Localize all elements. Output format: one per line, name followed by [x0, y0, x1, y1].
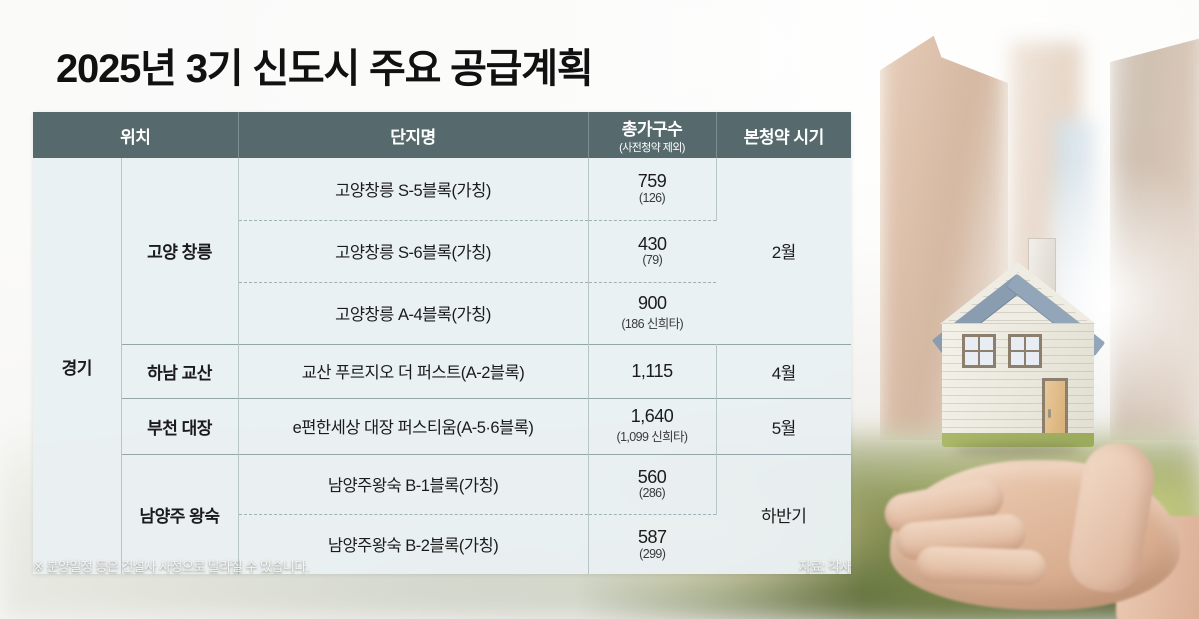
column-header-schedule: 본청약 시기 — [716, 112, 851, 158]
units-value: 430 — [593, 235, 713, 254]
column-header-complex: 단지명 — [238, 112, 588, 158]
units-value: 560 — [593, 468, 712, 487]
units-note: (79) — [593, 253, 713, 267]
cell-complex-name: 고양창릉 A-4블록(가칭) — [238, 282, 588, 344]
column-header-units-sub: (사전청약 제외) — [589, 139, 716, 155]
units-value: 900 — [593, 294, 713, 313]
cell-units: 759 (126) — [588, 158, 716, 220]
cell-complex-name: 고양창릉 S-5블록(가칭) — [238, 158, 588, 220]
units-value: 1,640 — [593, 407, 712, 426]
source-text: 자료: 각사 — [799, 556, 851, 575]
cell-units: 1,115 — [588, 344, 716, 398]
units-note: (126) — [593, 191, 712, 205]
table-header: 위치 단지명 총가구수 (사전청약 제외) 본청약 시기 — [33, 112, 851, 158]
cell-complex-name: 남양주왕숙 B-1블록(가칭) — [238, 454, 588, 514]
units-value: 759 — [593, 172, 712, 191]
table-row: 부천 대장 e편한세상 대장 퍼스티움(A-5·6블록) 1,640 (1,09… — [33, 398, 851, 454]
cell-units: 900 (186 신희타) — [588, 282, 716, 344]
units-value: 1,115 — [593, 362, 712, 381]
table-row: 경기 고양 창릉 고양창릉 S-5블록(가칭) 759 (126) 2월 — [33, 158, 851, 220]
cell-complex-name: 고양창릉 S-6블록(가칭) — [238, 220, 588, 282]
cell-complex-name: e편한세상 대장 퍼스티움(A-5·6블록) — [238, 398, 588, 454]
page-title: 2025년 3기 신도시 주요 공급계획 — [56, 36, 592, 94]
footnote-text: ※ 분양일정 등은 건설사 사정으로 달라질 수 있습니다. — [33, 556, 309, 575]
cell-schedule: 2월 — [716, 158, 851, 344]
column-header-units-main: 총가구수 — [622, 120, 683, 139]
cell-units: 430 (79) — [588, 220, 716, 282]
table-row: 하남 교산 교산 푸르지오 더 퍼스트(A-2블록) 1,115 4월 — [33, 344, 851, 398]
cell-region: 경기 — [33, 158, 121, 574]
cell-area: 부천 대장 — [121, 398, 238, 454]
table-body: 경기 고양 창릉 고양창릉 S-5블록(가칭) 759 (126) 2월 고양창… — [33, 158, 851, 574]
table-row: 남양주 왕숙 남양주왕숙 B-1블록(가칭) 560 (286) 하반기 — [33, 454, 851, 514]
units-note: (1,099 신희타) — [593, 426, 712, 445]
cell-units: 560 (286) — [588, 454, 716, 514]
units-note: (186 신희타) — [593, 313, 713, 332]
cell-area: 고양 창릉 — [121, 158, 238, 344]
column-header-location: 위치 — [33, 112, 238, 158]
footer-row: ※ 분양일정 등은 건설사 사정으로 달라질 수 있습니다. 자료: 각사 — [33, 556, 851, 575]
cell-complex-name: 교산 푸르지오 더 퍼스트(A-2블록) — [238, 344, 588, 398]
column-header-units: 총가구수 (사전청약 제외) — [588, 112, 716, 158]
cell-area: 하남 교산 — [121, 344, 238, 398]
units-value: 587 — [593, 528, 713, 547]
cell-schedule: 5월 — [716, 398, 851, 454]
cell-schedule: 4월 — [716, 344, 851, 398]
cell-units: 1,640 (1,099 신희타) — [588, 398, 716, 454]
supply-plan-table: 위치 단지명 총가구수 (사전청약 제외) 본청약 시기 경기 고양 창릉 고양… — [33, 112, 851, 574]
units-note: (286) — [593, 486, 712, 500]
